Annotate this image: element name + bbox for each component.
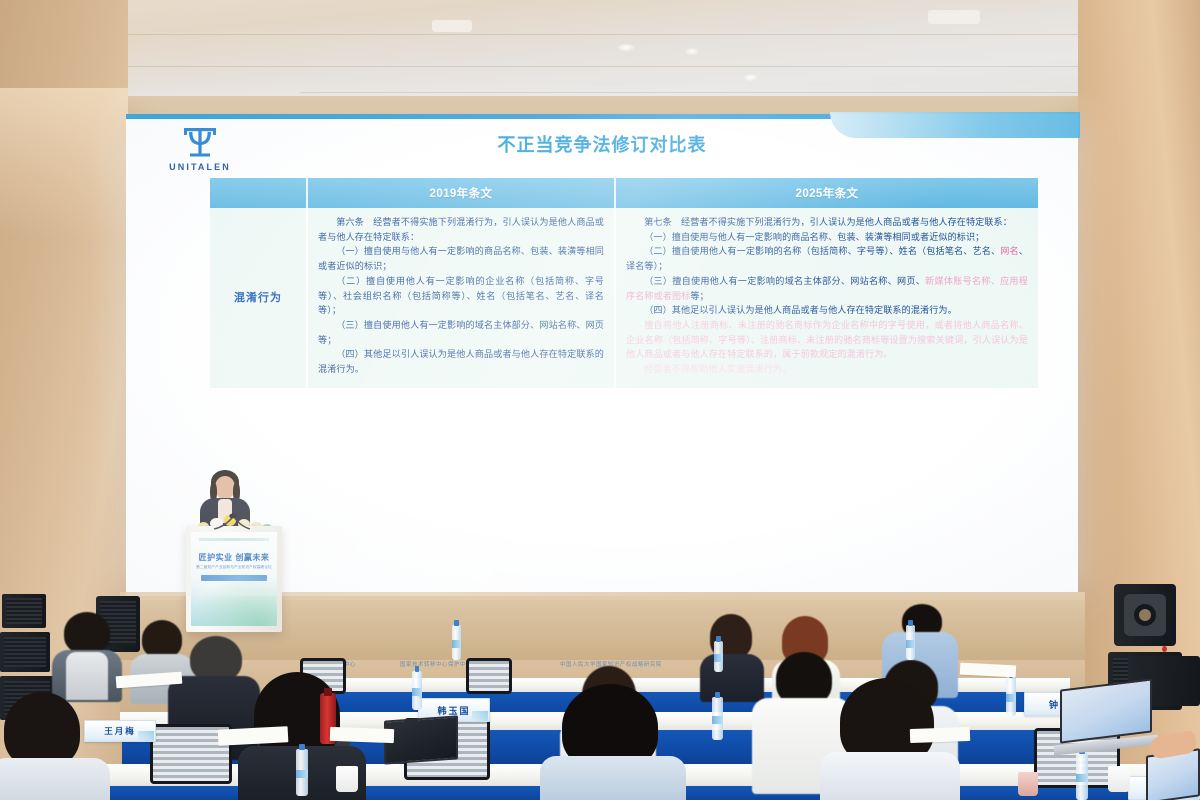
table-header-2025: 2025年条文 [616, 178, 1038, 208]
clause-2019-2: （二）擅自使用他人有一定影响的企业名称（包括简称、字号等）、社会组织名称（包括简… [318, 275, 604, 319]
ceiling-light-icon [432, 20, 472, 32]
water-bottle [296, 744, 308, 796]
table-header-2019: 2019年条文 [308, 178, 616, 208]
audience-person [0, 692, 110, 800]
clause-2019-0: 第六条 经营者不得实施下列混淆行为，引人误认为是他人商品或者与他人存在特定联系： [318, 216, 604, 245]
clause-2025-0: 第七条 经营者不得实施下列混淆行为，引人误认为是他人商品或者与他人存在特定联系： [626, 216, 1028, 231]
clause-2025-6: 经营者不得帮助他人实施混淆行为。 [626, 363, 1028, 378]
cell-2019-text: 第六条 经营者不得实施下列混淆行为，引人误认为是他人商品或者与他人存在特定联系：… [308, 208, 616, 388]
water-bottle [906, 620, 915, 660]
row-label-confusion: 混淆行为 [210, 208, 308, 388]
highlight-newmedia: 新媒体账号名称、应用程序名称或者图标 [626, 277, 1028, 302]
clause-2025-3: （三）擅自使用他人有一定影响的域名主体部分、网站名称、网页、新媒体账号名称、应用… [626, 275, 1028, 304]
table-row: 混淆行为 第六条 经营者不得实施下列混淆行为，引人误认为是他人商品或者与他人存在… [210, 208, 1038, 388]
clause-2025-2: （二）擅自使用他人有一定影响的名称（包括简称、字号等）、姓名（包括笔名、艺名、网… [626, 245, 1028, 274]
highlight-wangming: 网名 [1000, 247, 1019, 257]
placard-name: 韩玉国 [437, 704, 470, 717]
ceiling-light-icon [928, 10, 980, 24]
comparison-table: 2019年条文 2025年条文 混淆行为 第六条 经营者不得实施下列混淆行为，引… [210, 178, 1038, 388]
clause-2025-5: 擅自将他人注册商标、未注册的驰名商标作为企业名称中的字号使用，或者将他人商品名称… [626, 319, 1028, 363]
water-bottle [452, 620, 461, 660]
ceiling [0, 0, 1200, 108]
clause-list-2019: 第六条 经营者不得实施下列混淆行为，引人误认为是他人商品或者与他人存在特定联系：… [318, 216, 604, 378]
clause-2019-4: （四）其他足以引人误认为是他人商品或者与他人存在特定联系的混淆行为。 [318, 348, 604, 377]
document-paper [960, 663, 1017, 678]
document-paper [330, 727, 394, 743]
water-bottle [712, 692, 723, 740]
ceiling-light-icon [686, 48, 698, 55]
name-placard: 王月梅 [84, 720, 156, 742]
audience-area: 韩玉国 王月梅 钟文 卢伟 [0, 600, 1200, 800]
paper-cup [336, 766, 358, 792]
document-paper [910, 727, 970, 743]
water-bottle [714, 636, 723, 672]
clause-list-2025: 第七条 经营者不得实施下列混淆行为，引人误认为是他人商品或者与他人存在特定联系：… [626, 216, 1028, 378]
audience-person [540, 684, 686, 800]
ceiling-light-icon [744, 74, 757, 81]
water-bottle [1076, 748, 1088, 800]
clause-2025-4: （四）其他足以引人误认为是他人商品或者与他人存在特定联系的混淆行为。 [626, 304, 1028, 319]
table-header-corner [210, 178, 308, 208]
clause-2019-3: （三）擅自使用他人有一定影响的域名主体部分、网站名称、网页等； [318, 319, 604, 348]
microphone-icon [210, 512, 254, 530]
table-header-row: 2019年条文 2025年条文 [210, 178, 1038, 208]
clause-2019-1: （一）擅自使用与他人有一定影响的商品名称、包装、装潢等相同或者近似的标识； [318, 245, 604, 274]
paper-cup [1018, 772, 1038, 796]
slide-title: 不正当竞争法修订对比表 [126, 131, 1078, 157]
laptop-screen [1060, 678, 1152, 743]
cell-2025-text: 第七条 经营者不得实施下列混淆行为，引人误认为是他人商品或者与他人存在特定联系：… [616, 208, 1038, 388]
ceiling-light-icon [618, 44, 634, 51]
placard-name: 王月梅 [104, 725, 136, 737]
logo-wordmark: UNITALEN [154, 162, 246, 172]
podium-banner-title: 匠护实业 创赢未来 [191, 552, 277, 563]
clause-2025-1: （一）擅自使用与他人有一定影响的商品名称、包装、装潢等相同或者近似的标识； [626, 231, 1028, 246]
water-bottle [412, 666, 422, 710]
conference-room-scene: UNITALEN 不正当竞争法修订对比表 2019年条文 2025年条文 混淆行… [0, 0, 1200, 800]
chair [466, 658, 512, 694]
laptop-screen [384, 715, 458, 764]
water-bottle [1006, 672, 1016, 716]
paper-cup [1108, 766, 1130, 792]
audience-person [52, 612, 122, 696]
podium-banner-subtitle: 第二届知产产业创新与产业知识产权高峰论坛 [191, 565, 277, 570]
